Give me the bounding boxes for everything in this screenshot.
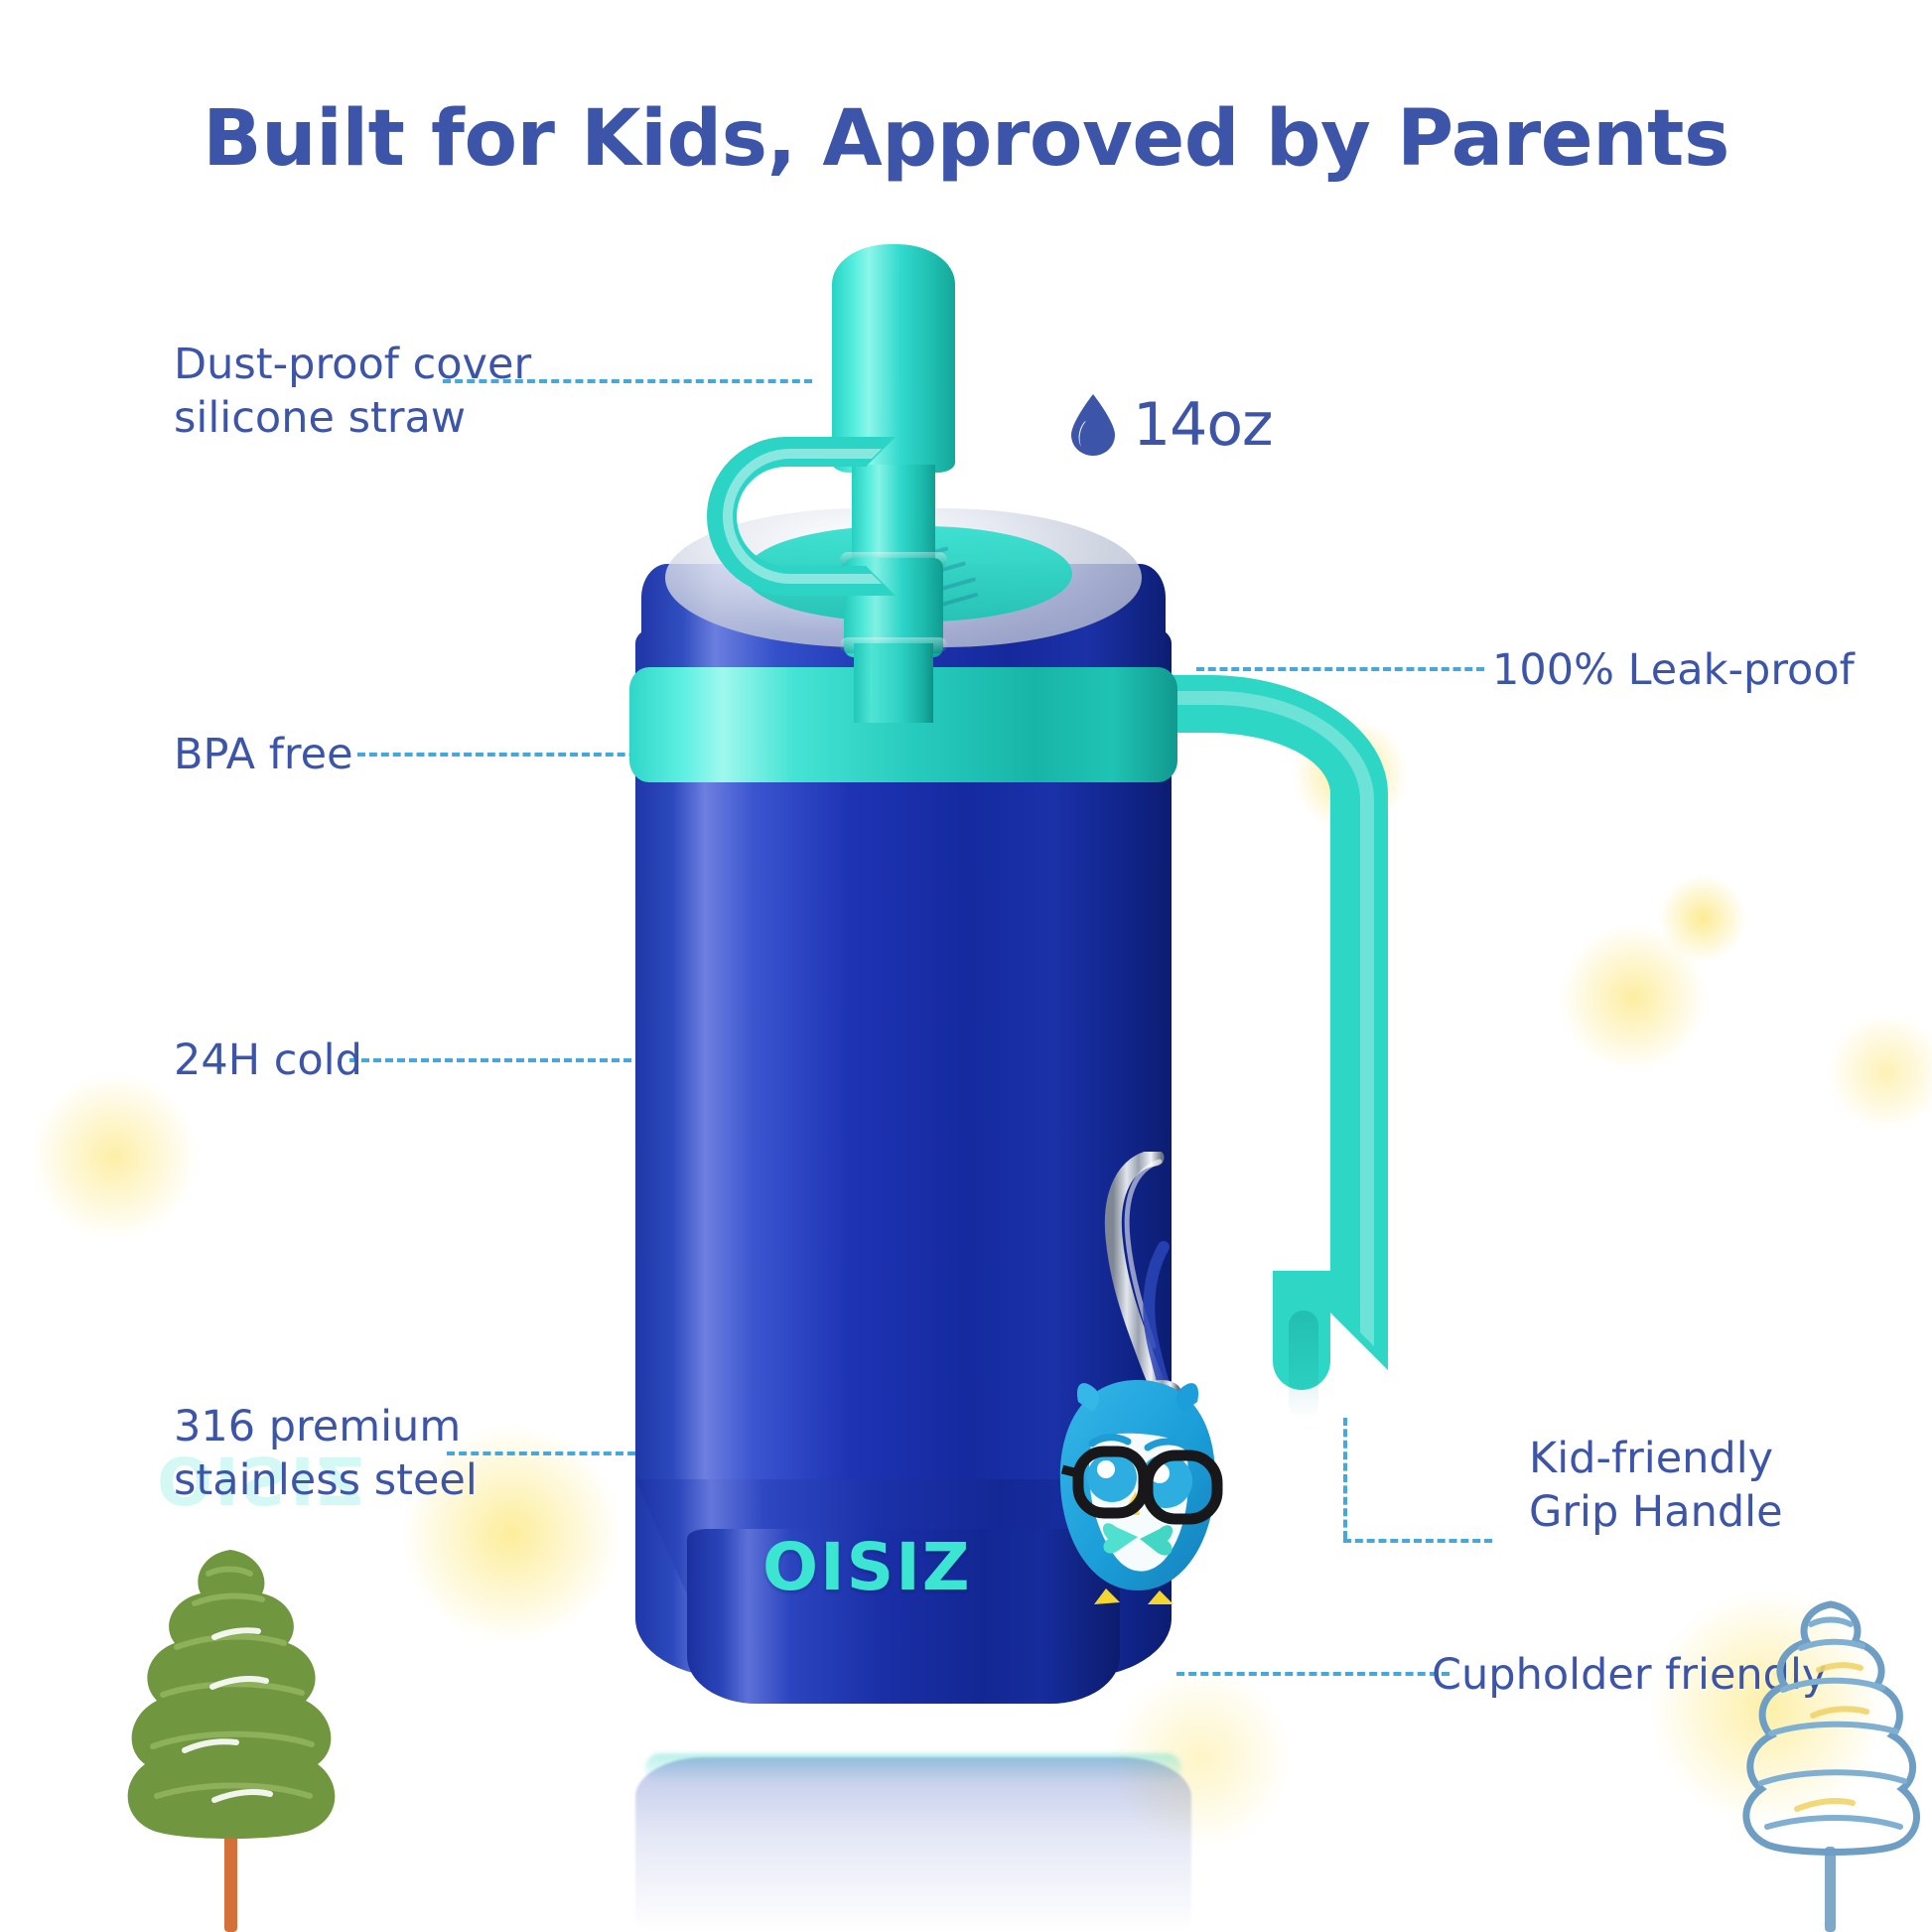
decor-tree-green-icon	[117, 1544, 345, 1932]
leader-line-grip-handle-horizontal	[1343, 1539, 1492, 1543]
straw-loop-highlight	[723, 449, 882, 584]
product-tumbler: OISIZ	[606, 298, 1360, 1787]
owl-charm-icon	[1048, 1366, 1227, 1604]
label-premium-steel: 316 premium stainless steel	[174, 1400, 478, 1507]
product-reflection	[635, 1757, 1191, 1932]
label-dust-proof-cover: Dust-proof cover silicone straw	[174, 338, 531, 445]
owl-keychain	[1042, 1152, 1301, 1608]
label-24h-cold: 24H cold	[174, 1034, 362, 1087]
straw-foot	[854, 643, 933, 723]
label-bpa-free: BPA free	[174, 728, 353, 781]
silicone-straw	[606, 298, 1360, 715]
label-leak-proof: 100% Leak-proof	[1492, 643, 1855, 697]
glow-blob	[30, 1072, 199, 1241]
capacity-badge: 14oz	[1067, 390, 1273, 460]
page-title: Built for Kids, Approved by Parents	[0, 94, 1932, 184]
infographic-canvas: Built for Kids, Approved by Parents OISI…	[0, 0, 1932, 1932]
brand-logo: OISIZ	[762, 1529, 972, 1605]
carabiner-clip-icon	[1100, 1152, 1185, 1400]
decor-tree-blue-icon	[1727, 1598, 1932, 1932]
glow-blob	[1658, 874, 1747, 963]
glow-blob	[1827, 1013, 1932, 1132]
water-drop-icon	[1067, 392, 1119, 458]
glow-blob	[1559, 923, 1708, 1072]
label-grip-handle: Kid-friendly Grip Handle	[1529, 1432, 1783, 1539]
capacity-value: 14oz	[1133, 390, 1273, 460]
